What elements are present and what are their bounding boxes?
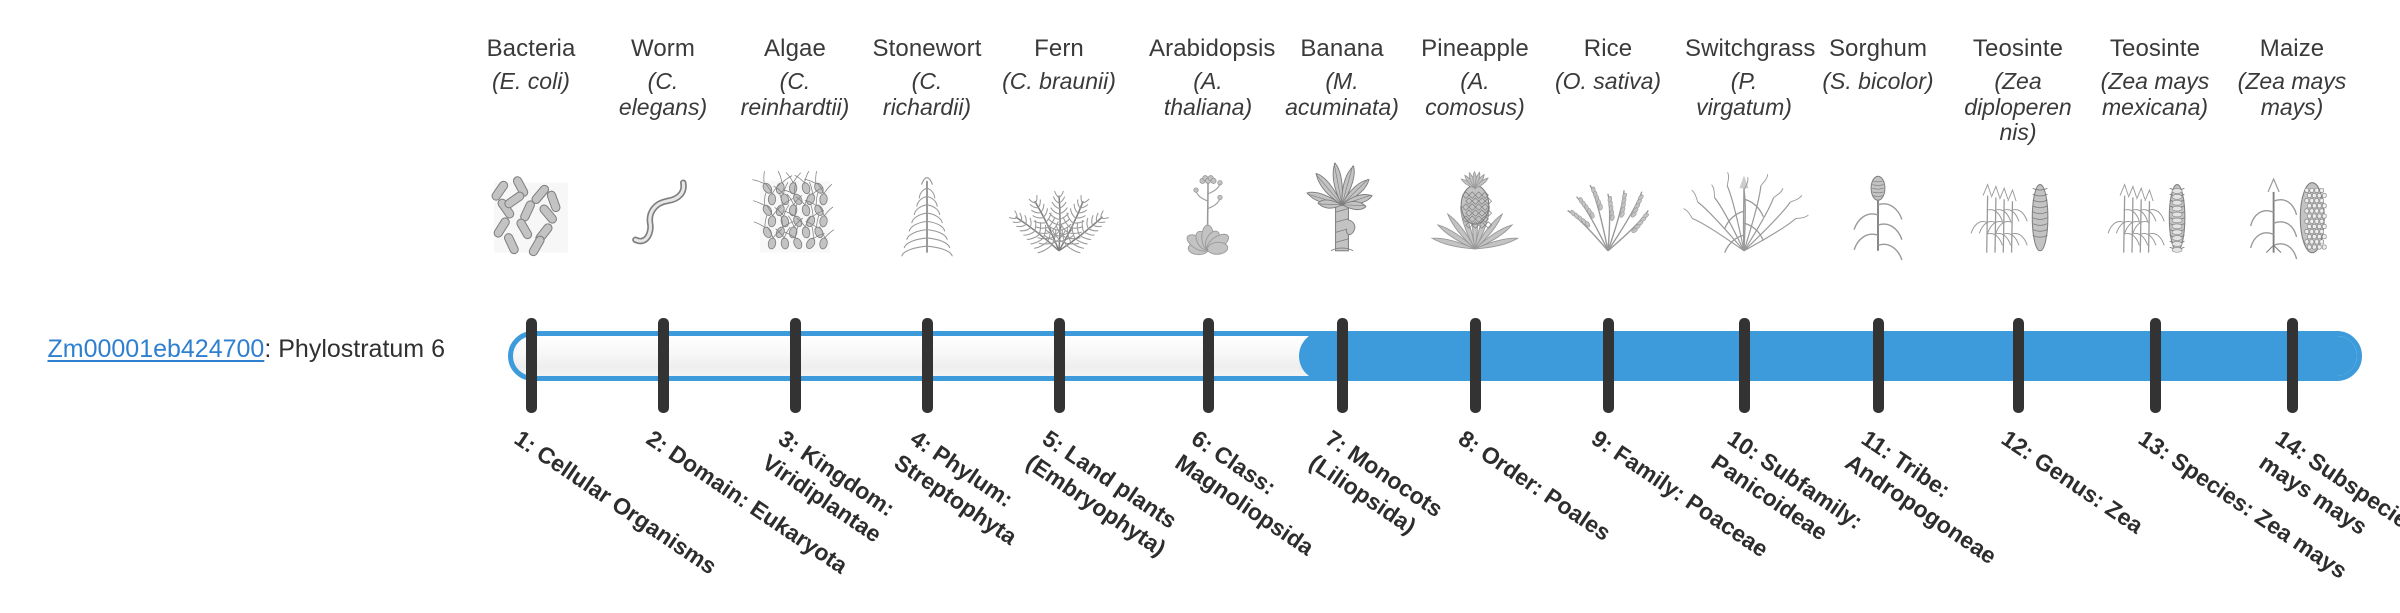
rank-label-1: 1: Cellular Organisms: [509, 424, 733, 588]
sorghum-icon: [1826, 168, 1930, 260]
gene-phylostratum-label: Zm00001eb424700: Phylostratum 6: [0, 337, 445, 362]
phylostratum-tick-4[interactable]: [922, 318, 933, 413]
gene-phylostratum-value: Phylostratum 6: [278, 335, 445, 363]
phylostratum-tick-10[interactable]: [1739, 318, 1750, 413]
phylostratum-tick-13[interactable]: [2150, 318, 2161, 413]
phylostratum-tick-14[interactable]: [2287, 318, 2298, 413]
phylostratum-tick-5[interactable]: [1054, 318, 1065, 413]
rank-number: 13:: [2134, 425, 2176, 465]
species-column-6: Arabidopsis (A. thaliana): [1149, 36, 1267, 120]
species-column-14: Maize (Zea mays mays): [2233, 36, 2351, 120]
species-common-name: Maize: [2233, 36, 2351, 63]
phylostratum-tick-9[interactable]: [1603, 318, 1614, 413]
species-column-1: Bacteria (E. coli): [472, 36, 590, 95]
species-latin-name: (Zea mays mays): [2233, 69, 2351, 121]
banana-icon: [1290, 168, 1394, 260]
phylostratum-tick-2[interactable]: [658, 318, 669, 413]
species-common-name: Fern: [1000, 36, 1118, 63]
phylostratum-timeline-figure: Zm00001eb424700: Phylostratum 6 Bacteria…: [0, 0, 2400, 580]
species-latin-name: (A. thaliana): [1149, 69, 1267, 121]
species-column-7: Banana (M. acuminata): [1283, 36, 1401, 120]
phylostratum-tick-12[interactable]: [2013, 318, 2024, 413]
species-latin-name: (Zea mays mexicana): [2096, 69, 2214, 121]
phylostratum-progress-bar[interactable]: [508, 331, 2362, 381]
phylostratum-tick-3[interactable]: [790, 318, 801, 413]
species-latin-name: (Zea diploperennis): [1959, 69, 2077, 146]
phylostratum-tick-7[interactable]: [1337, 318, 1348, 413]
species-common-name: Bacteria: [472, 36, 590, 63]
species-column-4: Stonewort (C. richardii): [868, 36, 986, 120]
species-latin-name: (S. bicolor): [1819, 69, 1937, 95]
species-column-5: Fern (C. braunii): [1000, 36, 1118, 95]
species-common-name: Banana: [1283, 36, 1401, 63]
teosinte-mex-icon: [2103, 168, 2207, 260]
fern-icon: [1007, 168, 1111, 260]
switchgrass-icon: [1692, 168, 1796, 260]
species-latin-name: (A. comosus): [1416, 69, 1534, 121]
species-latin-name: (P. virgatum): [1685, 69, 1803, 121]
algae-icon: [743, 168, 847, 260]
species-latin-name: (M. acuminata): [1283, 69, 1401, 121]
species-latin-name: (O. sativa): [1549, 69, 1667, 95]
species-column-12: Teosinte (Zea diploperennis): [1959, 36, 2077, 146]
rank-number: 12:: [1997, 425, 2039, 465]
species-latin-name: (E. coli): [472, 69, 590, 95]
species-column-8: Pineapple (A. comosus): [1416, 36, 1534, 120]
stonewort-icon: [875, 168, 979, 260]
species-common-name: Pineapple: [1416, 36, 1534, 63]
species-common-name: Switchgrass: [1685, 36, 1803, 63]
rank-text: Order: Poales: [1476, 440, 1616, 546]
phylostratum-tick-8[interactable]: [1470, 318, 1481, 413]
teosinte-diplo-icon: [1966, 168, 2070, 260]
rank-text: Genus: Zea: [2030, 447, 2148, 539]
species-common-name: Rice: [1549, 36, 1667, 63]
species-common-name: Algae: [736, 36, 854, 63]
maize-icon: [2240, 168, 2344, 260]
species-column-10: Switchgrass (P. virgatum): [1685, 36, 1803, 120]
gene-label-separator: :: [264, 335, 278, 363]
species-column-9: Rice (O. sativa): [1549, 36, 1667, 95]
worm-icon: [611, 168, 715, 260]
bacteria-icon: [479, 168, 583, 260]
species-common-name: Teosinte: [1959, 36, 2077, 63]
gene-id-link[interactable]: Zm00001eb424700: [47, 335, 264, 363]
species-common-name: Teosinte: [2096, 36, 2214, 63]
phylostratum-tick-11[interactable]: [1873, 318, 1884, 413]
species-column-3: Algae (C. reinhardtii): [736, 36, 854, 120]
species-common-name: Arabidopsis: [1149, 36, 1267, 63]
phylostratum-progress-fill: [1299, 331, 2362, 381]
species-column-13: Teosinte (Zea mays mexicana): [2096, 36, 2214, 120]
species-common-name: Sorghum: [1819, 36, 1937, 63]
arabidopsis-icon: [1156, 168, 1260, 260]
species-common-name: Worm: [604, 36, 722, 63]
rice-icon: [1556, 168, 1660, 260]
phylostratum-tick-6[interactable]: [1203, 318, 1214, 413]
species-column-11: Sorghum (S. bicolor): [1819, 36, 1937, 95]
species-latin-name: (C. braunii): [1000, 69, 1118, 95]
species-latin-name: (C. richardii): [868, 69, 986, 121]
species-common-name: Stonewort: [868, 36, 986, 63]
species-latin-name: (C. elegans): [604, 69, 722, 121]
species-column-2: Worm (C. elegans): [604, 36, 722, 120]
pineapple-icon: [1423, 168, 1527, 260]
phylostratum-tick-1[interactable]: [526, 318, 537, 413]
species-latin-name: (C. reinhardtii): [736, 69, 854, 121]
